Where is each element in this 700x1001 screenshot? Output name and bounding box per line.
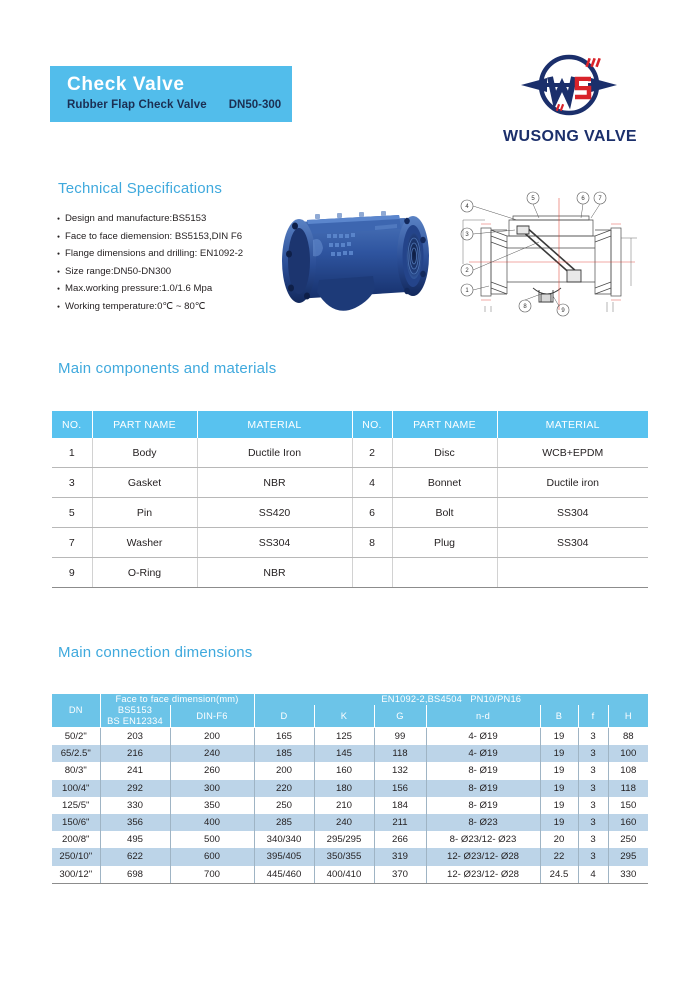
cell-no: 6 [352, 498, 392, 528]
cell-b: 22 [540, 848, 578, 865]
cell-b: 20 [540, 831, 578, 848]
company-logo: WUSONG VALVE [495, 52, 645, 157]
col-material-1: MATERIAL [197, 411, 352, 438]
wusong-logo-icon [517, 52, 621, 124]
cell-k: 400/410 [314, 866, 374, 884]
cell-material: SS304 [497, 528, 648, 558]
cell-b: 19 [540, 780, 578, 797]
col-h: H [608, 705, 648, 728]
cell-material: Ductile Iron [197, 438, 352, 468]
cell-part-name: Pin [92, 498, 197, 528]
product-photo-check-valve [255, 196, 455, 324]
col-b: B [540, 705, 578, 728]
cell-f: 3 [578, 780, 608, 797]
cell-din-f6: 240 [170, 745, 254, 762]
cell-f: 3 [578, 728, 608, 746]
cell-material: WCB+EPDM [497, 438, 648, 468]
table-row: 125/5" 330 350 250 210 184 8- Ø19 19 3 1… [52, 797, 648, 814]
cell-n-d: 8- Ø23/12- Ø23 [426, 831, 540, 848]
cell-h: 100 [608, 745, 648, 762]
cell-part-name: Disc [392, 438, 497, 468]
cell-bs5153: 698 [100, 866, 170, 884]
spec-item: Design and manufacture:BS5153 [57, 210, 282, 228]
svg-text:6: 6 [581, 196, 585, 202]
col-part-name-2: PART NAME [392, 411, 497, 438]
cell-f: 3 [578, 814, 608, 831]
cell-no: 2 [352, 438, 392, 468]
cell-g: 211 [374, 814, 426, 831]
cell-dn: 100/4" [52, 780, 100, 797]
product-size-range: DN50-300 [229, 99, 281, 111]
table-row: 150/6" 356 400 285 240 211 8- Ø23 19 3 1… [52, 814, 648, 831]
cell-g: 184 [374, 797, 426, 814]
cell-part-name [392, 558, 497, 588]
cell-g: 118 [374, 745, 426, 762]
cell-material: NBR [197, 558, 352, 588]
cell-material: SS304 [497, 498, 648, 528]
svg-text:3: 3 [465, 232, 469, 238]
cell-part-name: Plug [392, 528, 497, 558]
cell-dn: 65/2.5" [52, 745, 100, 762]
cell-part-name: Bolt [392, 498, 497, 528]
svg-text:8: 8 [523, 304, 527, 310]
cell-k: 180 [314, 780, 374, 797]
cell-b: 19 [540, 797, 578, 814]
col-d: D [254, 705, 314, 728]
product-title-banner: Check Valve Rubber Flap Check Valve DN50… [50, 66, 292, 122]
dimensions-table: DN Face to face dimension(mm) EN1092-2,B… [52, 694, 648, 884]
cell-f: 4 [578, 866, 608, 884]
cell-g: 266 [374, 831, 426, 848]
cell-part-name: Washer [92, 528, 197, 558]
col-dn: DN [52, 694, 100, 728]
table-row: 3 Gasket NBR 4 Bonnet Ductile iron [52, 468, 648, 498]
cell-din-f6: 500 [170, 831, 254, 848]
cell-no: 3 [52, 468, 92, 498]
col-bs5153-line1: BS5153 [118, 705, 152, 715]
cell-part-name: O-Ring [92, 558, 197, 588]
table-row: 250/10" 622 600 395/405 350/355 319 12- … [52, 848, 648, 865]
cell-d: 285 [254, 814, 314, 831]
cell-material [497, 558, 648, 588]
spec-item: Working temperature:0℃ ~ 80℃ [57, 298, 282, 316]
materials-table: NO. PART NAME MATERIAL NO. PART NAME MAT… [52, 411, 648, 588]
cell-d: 220 [254, 780, 314, 797]
spec-item: Size range:DN50-DN300 [57, 263, 282, 281]
cell-din-f6: 400 [170, 814, 254, 831]
cell-h: 295 [608, 848, 648, 865]
table-row: 80/3" 241 260 200 160 132 8- Ø19 19 3 10… [52, 762, 648, 779]
cell-g: 132 [374, 762, 426, 779]
cell-dn: 200/8" [52, 831, 100, 848]
company-name: WUSONG VALVE [495, 128, 645, 146]
col-k: K [314, 705, 374, 728]
cell-dn: 50/2" [52, 728, 100, 746]
svg-text:1: 1 [465, 288, 469, 294]
section-heading-main-connection-dimensions: Main connection dimensions [58, 644, 252, 661]
spec-item: Flange dimensions and drilling: EN1092-2 [57, 245, 282, 263]
cell-h: 118 [608, 780, 648, 797]
cell-f: 3 [578, 831, 608, 848]
table-row: 7 Washer SS304 8 Plug SS304 [52, 528, 648, 558]
cell-d: 200 [254, 762, 314, 779]
svg-text:4: 4 [465, 204, 469, 210]
cell-k: 145 [314, 745, 374, 762]
cell-b: 19 [540, 728, 578, 746]
section-heading-main-components: Main components and materials [58, 360, 276, 377]
cell-no: 8 [352, 528, 392, 558]
cell-din-f6: 300 [170, 780, 254, 797]
col-part-name-1: PART NAME [92, 411, 197, 438]
cell-k: 210 [314, 797, 374, 814]
table-row: 65/2.5" 216 240 185 145 118 4- Ø19 19 3 … [52, 745, 648, 762]
cell-part-name: Gasket [92, 468, 197, 498]
materials-table-header-row: NO. PART NAME MATERIAL NO. PART NAME MAT… [52, 411, 648, 438]
cell-d: 250 [254, 797, 314, 814]
cell-dn: 125/5" [52, 797, 100, 814]
col-group-flange-standard: EN1092-2,BS4504 PN10/PN16 [254, 694, 648, 705]
col-bs5153-line2: BS EN12334 [107, 716, 163, 726]
cell-din-f6: 700 [170, 866, 254, 884]
col-bs5153: BS5153 BS EN12334 [100, 705, 170, 728]
cell-g: 319 [374, 848, 426, 865]
spec-item: Face to face diemension: BS5153,DIN F6 [57, 228, 282, 246]
cell-h: 108 [608, 762, 648, 779]
cell-h: 160 [608, 814, 648, 831]
product-subtitle-row: Rubber Flap Check Valve DN50-300 [67, 99, 292, 111]
cell-material: NBR [197, 468, 352, 498]
cell-n-d: 8- Ø23 [426, 814, 540, 831]
cell-n-d: 4- Ø19 [426, 745, 540, 762]
cell-din-f6: 600 [170, 848, 254, 865]
table-row: 5 Pin SS420 6 Bolt SS304 [52, 498, 648, 528]
page-title: Check Valve [67, 73, 292, 97]
col-no-1: NO. [52, 411, 92, 438]
cell-no [352, 558, 392, 588]
spec-item: Max.working pressure:1.0/1.6 Mpa [57, 280, 282, 298]
technical-specifications-list: Design and manufacture:BS5153 Face to fa… [57, 210, 282, 315]
cell-d: 165 [254, 728, 314, 746]
cell-bs5153: 622 [100, 848, 170, 865]
cell-material: SS420 [197, 498, 352, 528]
cell-no: 7 [52, 528, 92, 558]
table-row: 1 Body Ductile Iron 2 Disc WCB+EPDM [52, 438, 648, 468]
cell-n-d: 4- Ø19 [426, 728, 540, 746]
cell-bs5153: 356 [100, 814, 170, 831]
cell-f: 3 [578, 745, 608, 762]
cell-part-name: Bonnet [392, 468, 497, 498]
cell-n-d: 8- Ø19 [426, 797, 540, 814]
cell-d: 185 [254, 745, 314, 762]
col-f: f [578, 705, 608, 728]
cell-n-d: 12- Ø23/12- Ø28 [426, 848, 540, 865]
cell-f: 3 [578, 797, 608, 814]
cell-material: Ductile iron [497, 468, 648, 498]
dimensions-header-sub-row: BS5153 BS EN12334 DIN-F6 D K G n-d B f H [52, 705, 648, 728]
cell-k: 240 [314, 814, 374, 831]
cell-din-f6: 350 [170, 797, 254, 814]
cell-k: 350/355 [314, 848, 374, 865]
cell-no: 5 [52, 498, 92, 528]
cell-f: 3 [578, 848, 608, 865]
cell-din-f6: 200 [170, 728, 254, 746]
cell-d: 395/405 [254, 848, 314, 865]
cell-k: 295/295 [314, 831, 374, 848]
cell-b: 24.5 [540, 866, 578, 884]
cell-dn: 250/10" [52, 848, 100, 865]
col-g: G [374, 705, 426, 728]
cell-dn: 80/3" [52, 762, 100, 779]
cell-n-d: 8- Ø19 [426, 762, 540, 779]
cell-g: 99 [374, 728, 426, 746]
table-row: 300/12" 698 700 445/460 400/410 370 12- … [52, 866, 648, 884]
table-row: 200/8" 495 500 340/340 295/295 266 8- Ø2… [52, 831, 648, 848]
cell-h: 88 [608, 728, 648, 746]
dimensions-header-group-row: DN Face to face dimension(mm) EN1092-2,B… [52, 694, 648, 705]
cell-bs5153: 216 [100, 745, 170, 762]
cell-bs5153: 495 [100, 831, 170, 848]
cell-no: 9 [52, 558, 92, 588]
cell-h: 330 [608, 866, 648, 884]
col-din-f6: DIN-F6 [170, 705, 254, 728]
table-row: 9 O-Ring NBR [52, 558, 648, 588]
cell-bs5153: 330 [100, 797, 170, 814]
cell-b: 19 [540, 745, 578, 762]
cell-bs5153: 203 [100, 728, 170, 746]
cell-no: 4 [352, 468, 392, 498]
cell-k: 160 [314, 762, 374, 779]
cell-bs5153: 292 [100, 780, 170, 797]
col-no-2: NO. [352, 411, 392, 438]
svg-text:2: 2 [465, 268, 469, 274]
svg-text:9: 9 [561, 308, 565, 314]
cell-n-d: 8- Ø19 [426, 780, 540, 797]
cell-no: 1 [52, 438, 92, 468]
table-row: 50/2" 203 200 165 125 99 4- Ø19 19 3 88 [52, 728, 648, 746]
cell-b: 19 [540, 762, 578, 779]
table-row: 100/4" 292 300 220 180 156 8- Ø19 19 3 1… [52, 780, 648, 797]
technical-cross-section-drawing: 4 5 6 7 3 2 1 8 9 [455, 190, 647, 318]
cell-dn: 300/12" [52, 866, 100, 884]
col-material-2: MATERIAL [497, 411, 648, 438]
cell-n-d: 12- Ø23/12- Ø28 [426, 866, 540, 884]
col-group-face-to-face: Face to face dimension(mm) [100, 694, 254, 705]
cell-d: 340/340 [254, 831, 314, 848]
cell-f: 3 [578, 762, 608, 779]
cell-dn: 150/6" [52, 814, 100, 831]
cell-b: 19 [540, 814, 578, 831]
cell-h: 150 [608, 797, 648, 814]
product-subtitle: Rubber Flap Check Valve [67, 99, 207, 111]
cell-din-f6: 260 [170, 762, 254, 779]
cell-bs5153: 241 [100, 762, 170, 779]
col-n-d: n-d [426, 705, 540, 728]
cell-material: SS304 [197, 528, 352, 558]
cell-part-name: Body [92, 438, 197, 468]
cell-k: 125 [314, 728, 374, 746]
cell-h: 250 [608, 831, 648, 848]
cell-g: 156 [374, 780, 426, 797]
svg-text:5: 5 [531, 196, 535, 202]
cell-g: 370 [374, 866, 426, 884]
section-heading-technical-specifications: Technical Specifications [58, 180, 222, 197]
cell-d: 445/460 [254, 866, 314, 884]
svg-text:7: 7 [598, 196, 602, 202]
